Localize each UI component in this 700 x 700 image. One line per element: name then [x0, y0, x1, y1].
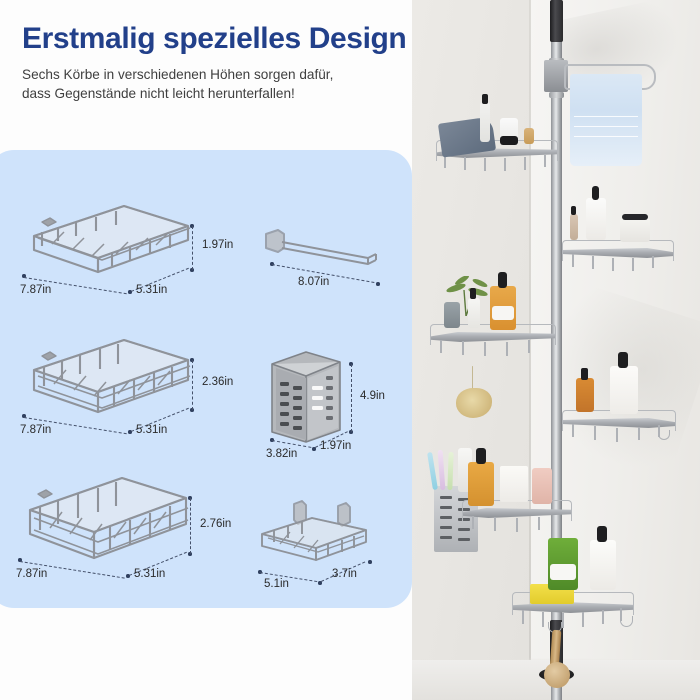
infographic-root: Erstmalig spezielles Design Sechs Körbe …	[0, 0, 700, 700]
jar-label	[500, 136, 518, 145]
shelf-5	[456, 486, 576, 538]
spec-depth-label: 1.97in	[320, 440, 351, 452]
shelf-wire	[638, 427, 640, 440]
serum-bottle	[570, 214, 578, 240]
shelf-wire	[472, 516, 474, 529]
page-title: Erstmalig spezielles Design	[22, 22, 452, 57]
shelf-3	[424, 310, 560, 362]
side-hook	[658, 430, 670, 440]
towel-stripe	[574, 126, 638, 127]
shelf-wire	[506, 342, 508, 356]
shelf-1	[430, 126, 562, 178]
side-hook	[620, 616, 633, 627]
shelf-wire	[632, 258, 634, 271]
shelf-wire	[602, 610, 604, 624]
shelf-wire	[504, 158, 506, 171]
spec-depth-label: 5.31in	[136, 424, 167, 436]
brush-head	[544, 662, 570, 688]
holder-slot	[440, 536, 452, 539]
shelf-wire	[444, 156, 446, 168]
spec-depth-label: 5.31in	[136, 284, 167, 296]
pump-head	[597, 526, 607, 542]
spray-bottle	[468, 298, 480, 328]
pump-head	[476, 448, 486, 464]
pump-head	[592, 186, 599, 200]
shelf-wire	[572, 254, 574, 267]
bottle-label	[492, 306, 514, 320]
shelf-wire	[522, 610, 524, 624]
pump-head	[618, 352, 628, 368]
shelf-wire	[582, 612, 584, 627]
subtitle-line-1: Sechs Körbe in verschiedenen Höhen sorge…	[22, 65, 452, 85]
towel-stripe	[574, 136, 638, 137]
shelf-wire	[612, 258, 614, 271]
shelf-wire	[652, 256, 654, 268]
header: Erstmalig spezielles Design Sechs Körbe …	[22, 22, 452, 104]
spec-width-label: 7.87in	[20, 284, 51, 296]
shelf-wire	[572, 424, 574, 437]
shelf-wire	[528, 340, 530, 353]
dropper-cap	[581, 368, 588, 380]
spec-width-label: 3.82in	[266, 448, 297, 460]
spec-toothbrush-holder: 3.82in 1.97in 4.9in	[266, 346, 396, 452]
shelf-wire	[594, 426, 596, 440]
shelf-wire	[516, 518, 518, 532]
shelf-rail	[562, 240, 674, 261]
white-soap-bottle	[590, 540, 616, 590]
spec-width-label: 5.1in	[264, 578, 289, 590]
soap-dish-illustration	[254, 498, 390, 582]
jar-container	[620, 218, 650, 242]
spec-towel-bar: 8.07in	[256, 228, 396, 298]
spec-width-label: 7.87in	[16, 568, 47, 580]
spec-depth-label: 3.7in	[332, 568, 357, 580]
pump-head	[498, 272, 507, 288]
holder-slot	[440, 496, 452, 499]
shelf-wire	[440, 340, 442, 353]
pole-band	[549, 92, 564, 98]
dim-dot	[368, 560, 372, 564]
amber-bottle	[576, 378, 594, 412]
shelf-wire	[544, 155, 546, 167]
hanging-towel	[570, 74, 642, 166]
holder-slot	[440, 516, 452, 519]
dim-line-height	[192, 226, 193, 270]
shelf-wire	[538, 517, 540, 530]
shelf-wire	[464, 157, 466, 170]
dim-line-height	[190, 498, 191, 554]
holder-slot	[440, 526, 452, 529]
holder-slot	[440, 506, 452, 509]
spec-height-label: 2.76in	[200, 518, 231, 530]
shampoo-bottle	[586, 198, 606, 240]
towel-stripe	[574, 116, 638, 117]
pole-top-cap	[550, 0, 563, 42]
jar-lid	[622, 214, 648, 220]
cream-box	[500, 466, 528, 502]
spec-basket-deep: 7.87in 5.31in 2.76in	[6, 468, 222, 588]
page-subtitle: Sechs Körbe in verschiedenen Höhen sorge…	[22, 65, 452, 104]
shelf-wire	[484, 158, 486, 171]
spec-basket-shallow: 7.87in 5.31in 1.97in	[12, 192, 222, 302]
spec-basket-medium: 7.87in 5.31in 2.36in	[12, 328, 222, 444]
shelf-wire	[524, 157, 526, 170]
product-photo	[412, 0, 700, 700]
spray-head	[470, 288, 476, 299]
spec-height-label: 4.9in	[360, 390, 385, 402]
spec-panel: 7.87in 5.31in 1.97in	[0, 150, 412, 608]
shelf-wire	[462, 341, 464, 355]
shelf-wire	[494, 517, 496, 531]
spec-width-label: 7.87in	[20, 424, 51, 436]
spec-soap-dish: 5.1in 3.7in	[254, 498, 394, 598]
bottle-cap	[482, 94, 488, 104]
shelf-2	[560, 226, 680, 278]
dim-line-height	[351, 364, 352, 432]
shelf-wire	[616, 428, 618, 442]
gold-tube	[524, 128, 534, 144]
dim-dot	[376, 282, 380, 286]
shelf-wire	[562, 613, 564, 628]
white-lotion-bottle	[610, 366, 638, 414]
holder-slot	[458, 538, 470, 541]
dim-line-height	[192, 360, 193, 410]
lotion-bottle	[480, 102, 490, 142]
spec-depth-label: 5.31in	[134, 568, 165, 580]
subtitle-line-2: dass Gegenstände nicht leicht herunterfa…	[22, 84, 452, 104]
spec-height-label: 1.97in	[202, 239, 233, 251]
shelf-wire	[484, 342, 486, 356]
shelf-wire	[542, 612, 544, 627]
shelf-wire	[592, 256, 594, 269]
pink-cylinder	[532, 468, 552, 504]
shelf-4	[560, 396, 682, 448]
spec-width-label: 8.07in	[298, 276, 329, 288]
spec-height-label: 2.36in	[202, 376, 233, 388]
bottle-label	[550, 564, 576, 580]
amber-soap-bottle	[468, 462, 494, 506]
dropper-cap	[571, 206, 576, 215]
glass-bottle	[444, 302, 460, 328]
shelf-6	[508, 580, 638, 634]
